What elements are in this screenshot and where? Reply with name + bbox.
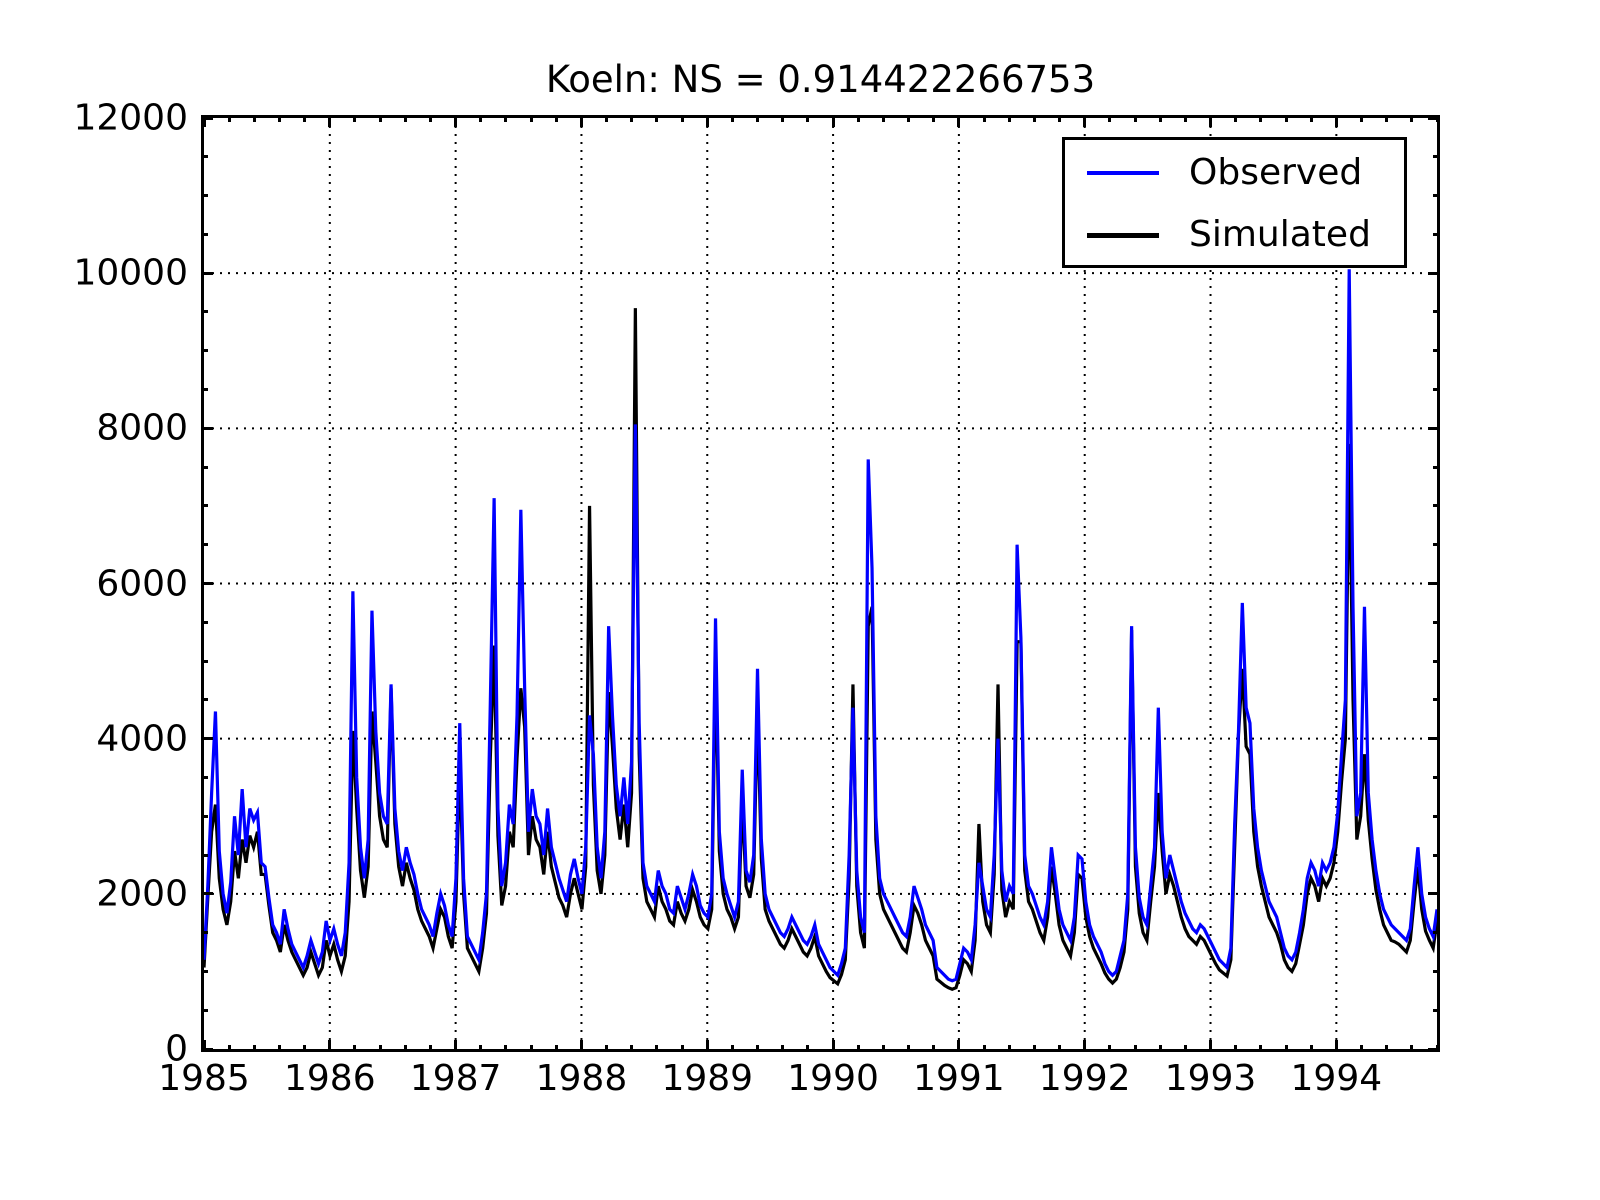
tick-minor-x [655,1045,658,1052]
tick-minor-y [201,388,208,391]
tick-major-y [201,1048,213,1051]
tick-major-x-top [454,115,457,127]
tick-minor-x [530,1045,533,1052]
tick-minor-x [379,1045,382,1052]
tick-minor-x-top [1184,115,1187,122]
tick-minor-x [857,1045,860,1052]
legend-item-simulated[interactable]: Simulated [1065,207,1404,263]
tick-minor-y [201,310,208,313]
tick-minor-y-right [1433,310,1440,313]
tick-minor-x [1058,1045,1061,1052]
tick-minor-x [907,1045,910,1052]
tick-minor-x [1234,1045,1237,1052]
tick-major-x [957,1040,960,1052]
tick-minor-x-top [479,115,482,122]
tick-minor-x [605,1045,608,1052]
tick-minor-x-top [1234,115,1237,122]
tick-minor-x-top [1008,115,1011,122]
tick-minor-y-right [1433,466,1440,469]
legend-label-simulated: Simulated [1189,217,1371,253]
tick-minor-x-top [504,115,507,122]
tick-major-y-right [1428,427,1440,430]
tick-minor-x [1360,1045,1363,1052]
tick-major-y [201,892,213,895]
figure-canvas: Koeln: NS = 0.914422266753 0200040006000… [0,0,1600,1200]
tick-minor-x-top [253,115,256,122]
tick-major-y-right [1428,892,1440,895]
tick-minor-x [1410,1045,1413,1052]
tick-minor-y-right [1433,660,1440,663]
tick-major-x [1335,1040,1338,1052]
tick-minor-x [756,1045,759,1052]
tick-minor-x [504,1045,507,1052]
tick-minor-x-top [1310,115,1313,122]
tick-major-y [201,117,213,120]
legend-swatch-simulated [1087,233,1159,238]
legend-label-observed: Observed [1189,155,1362,191]
tick-major-x-top [328,115,331,127]
tick-major-x [580,1040,583,1052]
tick-major-y [201,582,213,585]
tick-major-x [1209,1040,1212,1052]
tick-minor-x-top [1134,115,1137,122]
tick-minor-x-top [806,115,809,122]
tick-minor-x-top [1285,115,1288,122]
tick-minor-x [882,1045,885,1052]
tick-minor-x-top [781,115,784,122]
tick-minor-x [1008,1045,1011,1052]
tick-major-x [454,1040,457,1052]
tick-minor-x [1310,1045,1313,1052]
x-tick-label: 1994 [1236,1058,1436,1099]
tick-minor-x [1033,1045,1036,1052]
tick-minor-x [479,1045,482,1052]
tick-major-x-top [832,115,835,127]
tick-minor-x [630,1045,633,1052]
tick-minor-y [201,776,208,779]
tick-minor-x-top [1058,115,1061,122]
tick-minor-y [201,621,208,624]
tick-minor-x-top [303,115,306,122]
tick-minor-x-top [404,115,407,122]
tick-minor-x [731,1045,734,1052]
tick-minor-x [303,1045,306,1052]
tick-minor-y-right [1433,194,1440,197]
tick-major-x-top [706,115,709,127]
tick-minor-y-right [1433,970,1440,973]
tick-major-x-top [1335,115,1338,127]
tick-minor-x-top [278,115,281,122]
legend-item-observed[interactable]: Observed [1065,145,1404,201]
tick-major-x [832,1040,835,1052]
tick-minor-x [1134,1045,1137,1052]
tick-minor-x [681,1045,684,1052]
tick-minor-y-right [1433,776,1440,779]
series-line-observed [204,269,1437,980]
chart-legend[interactable]: Observed Simulated [1062,137,1407,268]
tick-minor-x-top [228,115,231,122]
tick-minor-y [201,660,208,663]
tick-minor-x-top [630,115,633,122]
tick-major-x-top [957,115,960,127]
tick-minor-x [781,1045,784,1052]
tick-minor-x-top [882,115,885,122]
tick-major-x-top [1209,115,1212,127]
tick-minor-y-right [1433,543,1440,546]
tick-minor-x-top [907,115,910,122]
tick-minor-y [201,931,208,934]
tick-minor-x [253,1045,256,1052]
tick-minor-y [201,1009,208,1012]
tick-minor-y [201,194,208,197]
tick-minor-y-right [1433,854,1440,857]
tick-minor-x [404,1045,407,1052]
tick-minor-y-right [1433,349,1440,352]
tick-minor-x-top [1410,115,1413,122]
tick-minor-x-top [1159,115,1162,122]
tick-major-x [1083,1040,1086,1052]
tick-minor-x [1285,1045,1288,1052]
tick-minor-x-top [1108,115,1111,122]
tick-major-x-top [580,115,583,127]
tick-minor-y-right [1433,1009,1440,1012]
tick-minor-x-top [353,115,356,122]
tick-major-y-right [1428,272,1440,275]
tick-minor-y [201,504,208,507]
tick-minor-x-top [1033,115,1036,122]
tick-minor-x-top [681,115,684,122]
tick-minor-x-top [655,115,658,122]
tick-minor-y [201,815,208,818]
tick-minor-y [201,349,208,352]
tick-minor-y-right [1433,233,1440,236]
tick-minor-x [1259,1045,1262,1052]
tick-minor-x [228,1045,231,1052]
tick-major-y [201,272,213,275]
tick-minor-y [201,698,208,701]
tick-minor-y [201,970,208,973]
tick-major-y [201,737,213,740]
tick-minor-x [1385,1045,1388,1052]
tick-minor-x-top [1385,115,1388,122]
tick-major-x-top [1083,115,1086,127]
tick-minor-y-right [1433,698,1440,701]
tick-minor-x-top [731,115,734,122]
tick-minor-x [806,1045,809,1052]
tick-minor-x-top [429,115,432,122]
series-layer [204,269,1437,989]
legend-swatch-observed [1087,171,1159,175]
tick-major-y [201,427,213,430]
tick-minor-y [201,466,208,469]
tick-minor-y-right [1433,504,1440,507]
tick-minor-x [932,1045,935,1052]
tick-minor-x-top [379,115,382,122]
tick-minor-x-top [555,115,558,122]
tick-major-y-right [1428,1048,1440,1051]
tick-minor-x [1108,1045,1111,1052]
tick-minor-x [983,1045,986,1052]
tick-minor-x [278,1045,281,1052]
tick-minor-x-top [1360,115,1363,122]
tick-minor-y-right [1433,155,1440,158]
tick-minor-y [201,854,208,857]
tick-minor-x-top [983,115,986,122]
tick-minor-x [429,1045,432,1052]
tick-minor-x-top [1259,115,1262,122]
tick-minor-x [353,1045,356,1052]
series-line-simulated [204,308,1437,989]
tick-minor-x-top [530,115,533,122]
tick-minor-x [1184,1045,1187,1052]
tick-minor-x-top [857,115,860,122]
tick-minor-x [555,1045,558,1052]
tick-major-x [706,1040,709,1052]
tick-minor-x [1159,1045,1162,1052]
tick-minor-x-top [932,115,935,122]
tick-minor-y-right [1433,931,1440,934]
tick-major-x [328,1040,331,1052]
tick-major-y-right [1428,582,1440,585]
tick-major-y-right [1428,117,1440,120]
tick-minor-y [201,233,208,236]
tick-minor-y-right [1433,815,1440,818]
tick-minor-y [201,543,208,546]
tick-major-y-right [1428,737,1440,740]
tick-minor-y-right [1433,388,1440,391]
tick-minor-x-top [605,115,608,122]
tick-minor-y-right [1433,621,1440,624]
tick-minor-y [201,155,208,158]
tick-minor-x-top [756,115,759,122]
